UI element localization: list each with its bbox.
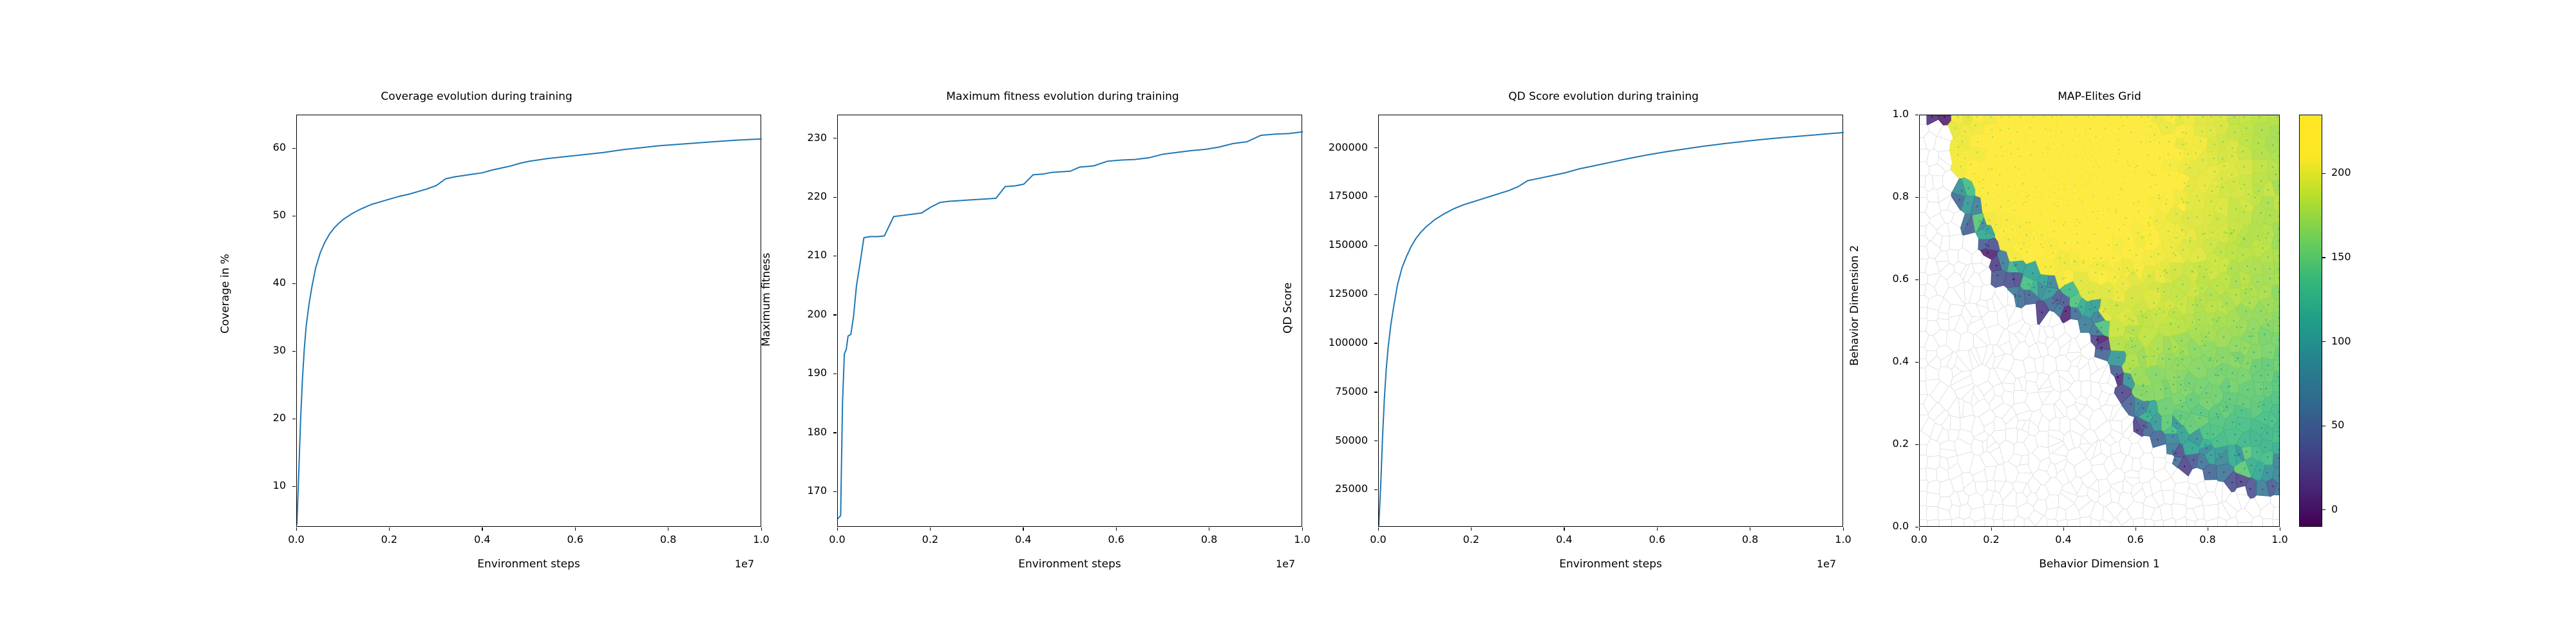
grid-cell-centroid [1987,229,1989,231]
grid-cell-centroid [2062,188,2064,190]
x-tick-mark [837,527,838,531]
grid-cell-centroid [2233,229,2235,231]
y-tick-mark [1374,489,1378,490]
y-tick-mark [292,486,296,487]
panel-coverage-x-offset: 1e7 [735,558,754,570]
grid-cell-centroid [2156,220,2158,222]
grid-cell-centroid [2246,128,2248,129]
grid-cell-centroid [2222,357,2224,359]
grid-cell-centroid [2201,461,2202,463]
grid-cell-centroid [2278,435,2280,437]
y-tick-label: 40 [164,276,286,289]
grid-cell-centroid [2210,294,2212,296]
grid-cell-centroid [2210,243,2212,245]
grid-cell-centroid [2249,302,2251,304]
grid-cell-centroid [2122,175,2124,177]
panel-qd-score-title: QD Score evolution during training [1378,90,1829,103]
grid-cell-centroid [2002,262,2004,264]
grid-cell-centroid [2186,133,2188,135]
grid-cell-centroid [1991,129,1993,131]
grid-cell-centroid [2026,251,2028,253]
grid-cell-centroid [2121,189,2123,191]
grid-cell-centroid [2173,312,2175,314]
y-tick-mark [1915,527,1918,527]
grid-cell-centroid [2136,270,2138,272]
grid-cell-centroid [2234,131,2236,133]
grid-cell-centroid [2128,270,2130,272]
grid-cell-centroid [2000,206,2002,208]
grid-cell-filled [2005,115,2015,123]
grid-cell-centroid [2198,368,2200,370]
grid-cell-centroid [2052,252,2054,254]
grid-cell-centroid [2260,388,2262,390]
grid-cell-centroid [2209,214,2211,216]
y-tick-mark [292,283,296,284]
grid-cell-centroid [2105,308,2107,310]
grid-cell-centroid [1997,274,1999,276]
grid-cell-centroid [2159,275,2161,277]
grid-cell-centroid [2033,238,2035,240]
grid-cell-centroid [2230,232,2232,234]
grid-cell-centroid [2244,239,2246,241]
grid-cell-centroid [2278,411,2280,413]
grid-cell-centroid [2029,222,2031,223]
grid-cell-empty [1987,480,1995,491]
y-tick-mark [1374,343,1378,343]
grid-cell-centroid [2244,116,2246,118]
grid-cell-centroid [2076,225,2078,227]
grid-cell-centroid [2251,289,2253,290]
x-tick-label: 0.2 [1432,533,1510,545]
grid-cell-filled [2071,238,2084,252]
grid-cell-centroid [2159,157,2161,159]
x-tick-label: 0.2 [891,533,969,545]
grid-cell-centroid [2231,174,2233,176]
panel-qd-score-xlabel: Environment steps [1378,558,1843,571]
grid-cell-centroid [2049,148,2050,150]
grid-cell-empty [1920,115,1927,124]
grid-cell-centroid [2079,222,2081,224]
grid-cell-centroid [2146,317,2148,319]
grid-cell-centroid [2266,432,2268,434]
grid-cell-centroid [2182,131,2184,133]
grid-cell-centroid [2200,386,2202,388]
grid-cell-centroid [2141,316,2143,317]
grid-cell-centroid [2131,298,2133,299]
grid-cell-centroid [2216,413,2218,415]
grid-cell-empty [1920,226,1926,236]
y-tick-label: 175000 [1245,189,1368,202]
grid-cell-centroid [2224,265,2226,267]
x-tick-label: 0.0 [1880,533,1958,545]
grid-cell-centroid [2272,166,2274,168]
grid-cell-centroid [2278,240,2280,241]
grid-cell-centroid [2148,222,2150,224]
grid-cell-centroid [2043,169,2045,171]
grid-cell-centroid [2149,225,2151,227]
panel-map-elites-title: MAP-Elites Grid [1919,90,2280,103]
panel-coverage-axes [296,115,761,527]
y-tick-mark [1915,444,1918,445]
grid-cell-centroid [2171,247,2173,249]
grid-cell-centroid [2082,262,2084,264]
grid-cell-centroid [1985,204,1987,206]
grid-cell-centroid [2217,361,2219,363]
grid-cell-centroid [2243,278,2245,280]
grid-cell-centroid [2262,488,2264,490]
y-tick-mark [292,419,296,419]
grid-cell-centroid [2085,152,2087,154]
grid-cell-centroid [2152,174,2154,176]
colorbar-tick-mark [2322,173,2325,174]
grid-cell-centroid [2272,144,2274,146]
y-tick-mark [833,491,837,492]
grid-cell-centroid [2157,439,2159,441]
grid-cell-centroid [2083,260,2085,261]
grid-cell-centroid [1987,192,1989,194]
grid-cell-centroid [2155,421,2157,423]
grid-cell-centroid [2157,348,2159,350]
grid-cell-centroid [2252,336,2254,337]
grid-cell-centroid [2094,233,2096,235]
grid-cell-empty [1920,506,1927,520]
grid-cell-centroid [2226,303,2228,305]
grid-cell-centroid [2141,237,2143,239]
y-tick-label: 0.0 [1786,520,1909,532]
grid-cell-centroid [2125,315,2126,317]
grid-cell-centroid [1979,220,1981,222]
grid-cell-centroid [2223,231,2225,233]
grid-cell-centroid [2201,131,2203,133]
grid-cell-centroid [2144,336,2146,337]
grid-cell-centroid [2081,201,2083,203]
grid-cell-centroid [2148,171,2150,173]
grid-cell-centroid [2064,262,2066,264]
grid-cell-centroid [2074,310,2076,312]
y-tick-label: 210 [705,249,827,261]
grid-cell-centroid [2129,368,2131,370]
grid-cell-centroid [2217,218,2219,220]
grid-cell-centroid [2180,415,2182,417]
grid-cell-centroid [2259,401,2261,403]
grid-cell-centroid [2118,229,2120,231]
grid-cell-centroid [2197,256,2199,258]
grid-cell-centroid [1978,182,1980,184]
grid-cell-centroid [2242,151,2244,153]
x-tick-label: 1.0 [723,533,800,545]
grid-cell-centroid [2121,392,2123,393]
grid-cell-centroid [2092,195,2094,197]
grid-cell-centroid [2278,202,2280,204]
grid-cell-centroid [2132,329,2134,331]
grid-cell-centroid [2125,218,2127,220]
grid-cell-centroid [2133,203,2135,205]
grid-cell-centroid [2007,186,2009,188]
grid-cell-centroid [2246,310,2248,312]
grid-cell-centroid [2244,441,2246,443]
grid-cell-centroid [1970,164,1972,166]
grid-cell-centroid [2202,159,2204,161]
grid-cell-centroid [2165,203,2167,205]
grid-cell-centroid [2202,234,2204,236]
grid-cell-centroid [2041,234,2043,236]
grid-cell-centroid [2022,204,2023,205]
grid-cell-centroid [2268,324,2269,326]
grid-cell-centroid [2128,238,2130,240]
grid-cell-centroid [2204,185,2206,187]
grid-cell-centroid [2278,449,2280,451]
grid-cell-centroid [2118,343,2120,345]
grid-cell-centroid [2234,455,2236,457]
grid-cell-centroid [1982,222,1984,224]
grid-cell-centroid [2130,403,2132,405]
grid-cell-centroid [2132,360,2134,362]
y-tick-mark [1915,197,1918,198]
grid-cell-centroid [2245,205,2247,207]
y-tick-label: 125000 [1245,287,1368,299]
grid-cell-centroid [2050,245,2052,247]
y-tick-label: 0.2 [1786,437,1909,450]
grid-cell-centroid [2269,268,2271,270]
grid-cell-centroid [2233,320,2235,322]
grid-cell-empty [1920,308,1927,318]
grid-cell-centroid [2168,348,2170,350]
grid-cell-centroid [2075,303,2077,305]
grid-cell-centroid [2211,200,2213,202]
grid-cell-centroid [2199,417,2201,419]
grid-cell-centroid [2278,339,2280,341]
panel-map-elites-axes [1919,115,2280,527]
grid-cell-centroid [2258,406,2260,408]
grid-cell-centroid [2278,185,2280,187]
grid-cell-empty [1949,504,1960,519]
grid-cell-centroid [2231,147,2233,149]
panel-max-fitness-x-offset: 1e7 [1276,558,1295,570]
map-elites-voronoi [1920,115,2280,527]
grid-cell-centroid [2096,263,2098,265]
grid-cell-centroid [2257,142,2259,144]
grid-cell-centroid [2244,347,2246,349]
grid-cell-centroid [2233,180,2235,182]
grid-cell-centroid [2175,213,2177,215]
grid-cell-centroid [2157,291,2159,293]
grid-cell-centroid [2101,349,2103,351]
grid-cell-centroid [2009,142,2011,144]
grid-cell-centroid [2117,376,2119,378]
x-tick-label: 0.4 [985,533,1062,545]
grid-cell-centroid [2089,308,2091,310]
grid-cell-centroid [2049,290,2050,292]
grid-cell-centroid [1990,116,1992,118]
grid-cell-centroid [2126,267,2128,269]
grid-cell-centroid [2239,453,2241,455]
grid-cell-empty [1920,455,1927,469]
panel-coverage-ylabel: Coverage in % [161,263,290,276]
grid-cell-centroid [2061,132,2063,134]
grid-cell-centroid [2278,325,2280,327]
grid-cell-centroid [2165,408,2167,410]
grid-cell-centroid [2211,231,2213,233]
grid-cell-empty [1920,468,1927,480]
x-tick-mark [1991,527,1992,531]
grid-cell-centroid [2020,116,2022,118]
grid-cell-centroid [2190,425,2192,427]
grid-cell-centroid [2237,455,2239,457]
grid-cell-centroid [2242,403,2244,405]
grid-cell-centroid [2065,222,2067,223]
grid-cell-centroid [2176,422,2178,424]
grid-cell-centroid [2098,166,2100,168]
grid-cell-centroid [2172,436,2173,438]
grid-cell-centroid [2266,472,2268,474]
grid-cell-centroid [1992,136,1994,138]
x-tick-label: 0.4 [444,533,521,545]
grid-cell-centroid [1958,146,1960,148]
grid-cell-centroid [2266,238,2268,240]
grid-cell-centroid [1955,127,1956,129]
grid-cell-centroid [2063,224,2065,226]
grid-cell-centroid [2096,249,2098,251]
grid-cell-centroid [2261,427,2263,429]
grid-cell-centroid [2056,299,2058,301]
grid-cell-centroid [1967,187,1969,189]
grid-cell-filled [2254,382,2264,395]
grid-cell-centroid [2088,241,2090,243]
grid-cell-centroid [2213,144,2215,146]
grid-cell-centroid [2174,346,2176,348]
y-tick-label: 60 [164,141,286,153]
grid-cell-centroid [2080,280,2082,282]
grid-cell-centroid [2220,251,2222,253]
grid-cell-centroid [2278,457,2280,459]
y-tick-mark [292,148,296,149]
grid-cell-centroid [2108,116,2110,118]
grid-cell-centroid [2014,294,2016,296]
grid-cell-centroid [2247,389,2249,391]
grid-cell-centroid [2184,390,2186,392]
grid-cell-centroid [2107,209,2109,211]
grid-cell-centroid [2205,336,2207,338]
grid-cell-centroid [2196,438,2198,440]
grid-cell-centroid [2277,116,2278,118]
grid-cell-centroid [2137,211,2139,213]
max-fitness-plot-area [838,115,1303,527]
grid-cell-centroid [2261,129,2263,131]
grid-cell-centroid [2235,360,2237,362]
grid-cell-centroid [2215,395,2217,397]
grid-cell-centroid [2143,425,2145,427]
grid-cell-centroid [2128,377,2130,379]
grid-cell-centroid [1987,252,1989,254]
grid-cell-centroid [2255,439,2257,441]
grid-cell-centroid [2222,306,2224,308]
grid-cell-centroid [2196,216,2198,218]
y-tick-label: 170 [705,484,827,497]
grid-cell-centroid [2226,232,2228,234]
grid-cell-filled [2253,159,2268,174]
grid-cell-centroid [2025,201,2027,203]
grid-cell-centroid [2075,173,2077,175]
grid-cell-filled [2187,296,2195,314]
grid-cell-centroid [2187,153,2189,155]
grid-cell-centroid [2128,318,2130,320]
grid-cell-centroid [2140,141,2142,143]
grid-cell-centroid [2137,232,2139,234]
x-tick-mark [1657,527,1658,531]
grid-cell-centroid [2172,430,2173,432]
grid-cell-centroid [2173,377,2175,379]
grid-cell-centroid [2153,355,2155,357]
y-tick-label: 20 [164,412,286,424]
grid-cell-centroid [1995,223,1997,225]
grid-cell-centroid [2136,254,2137,256]
grid-cell-centroid [2080,306,2082,308]
x-tick-mark [296,527,297,531]
y-tick-label: 0.4 [1786,355,1909,367]
grid-cell-centroid [2098,147,2100,149]
y-tick-mark [1374,147,1378,148]
grid-cell-centroid [2257,281,2259,283]
grid-cell-centroid [2030,154,2032,156]
grid-cell-centroid [2028,294,2030,296]
panel-max-fitness-title: Maximum fitness evolution during trainin… [837,90,1288,103]
grid-cell-centroid [2215,260,2217,261]
grid-cell-centroid [2190,240,2192,242]
grid-cell-centroid [2014,265,2016,267]
grid-cell-centroid [1977,142,1979,144]
grid-cell-centroid [2262,247,2264,249]
grid-cell-centroid [2261,152,2263,154]
grid-cell-centroid [2126,161,2128,163]
grid-cell-centroid [2184,466,2186,468]
grid-cell-centroid [2278,291,2280,293]
grid-cell-centroid [2217,185,2219,187]
grid-cell-centroid [2201,340,2203,342]
grid-cell-centroid [2065,277,2067,279]
grid-cell-centroid [2278,255,2280,257]
grid-cell-centroid [2000,129,2002,131]
colorbar-tick-mark [2322,341,2325,342]
grid-cell-centroid [1944,116,1946,118]
grid-cell-centroid [2209,359,2211,361]
grid-cell-centroid [2243,184,2245,185]
grid-cell-centroid [2176,296,2178,298]
x-tick-label: 0.8 [1712,533,1789,545]
grid-cell-centroid [2163,291,2165,293]
grid-cell-centroid [2216,321,2218,323]
grid-cell-centroid [2069,205,2070,207]
grid-cell-centroid [2267,374,2269,375]
grid-cell-centroid [2036,186,2038,188]
grid-cell-centroid [2233,116,2235,118]
grid-cell-centroid [2188,218,2190,220]
grid-cell-filled [2037,160,2049,180]
grid-cell-centroid [2119,116,2121,118]
grid-cell-centroid [1985,233,1987,235]
y-tick-mark [833,197,837,198]
grid-cell-centroid [2143,236,2145,238]
grid-cell-centroid [2180,384,2182,386]
grid-cell-centroid [2097,211,2099,213]
grid-cell-centroid [2183,249,2184,251]
grid-cell-centroid [2223,471,2225,473]
colorbar-tick-mark [2322,426,2325,426]
grid-cell-centroid [2050,283,2052,285]
grid-cell-centroid [2223,166,2225,167]
grid-cell-centroid [2120,187,2122,189]
grid-cell-centroid [2175,237,2177,239]
x-tick-mark [1564,527,1564,531]
